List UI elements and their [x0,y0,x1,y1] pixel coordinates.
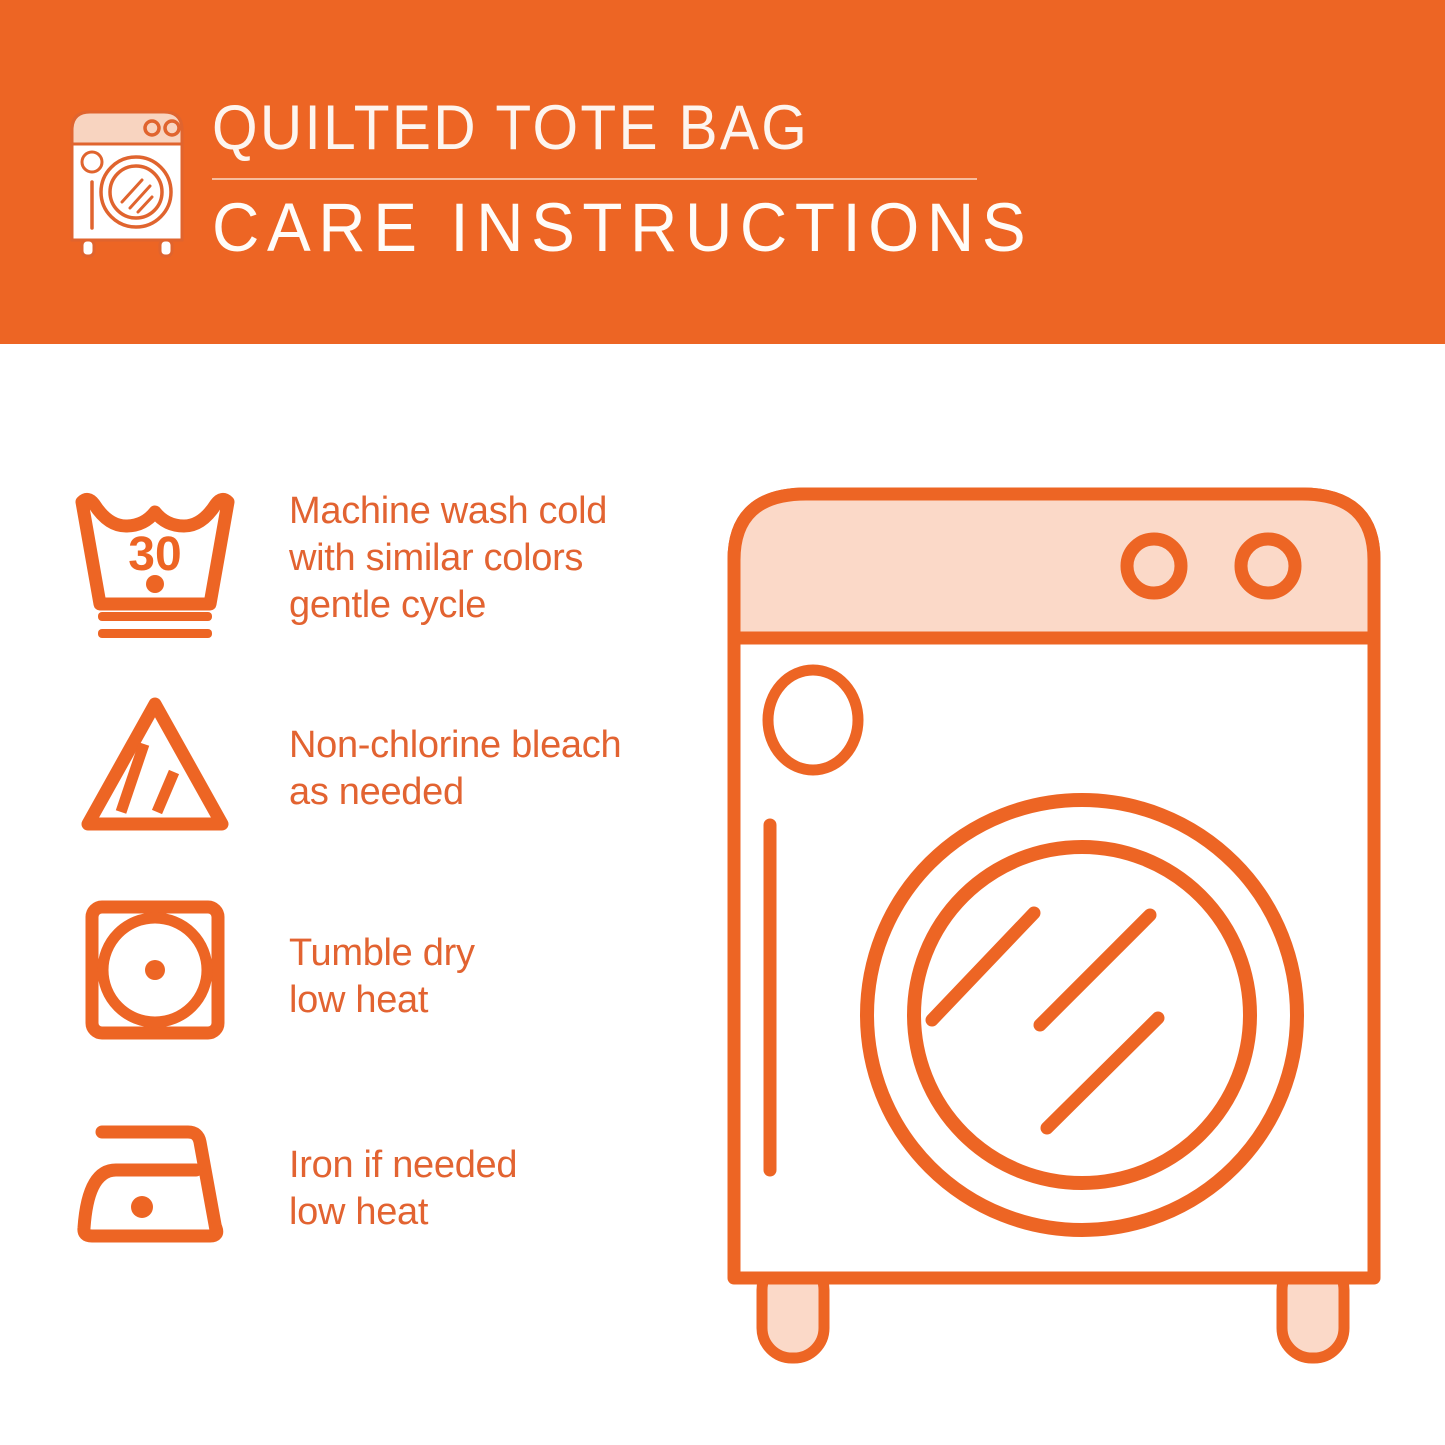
care-row: 30 Machine wash cold with similar colors… [0,470,700,680]
large-washing-machine-illustration [710,470,1410,1380]
care-instructions-infographic: QUILTED TOTE BAG CARE INSTRUCTIONS 30 [0,0,1445,1445]
care-line: as needed [289,769,689,816]
care-text: Iron if needed low heat [289,1142,689,1236]
care-text: Non-chlorine bleach as needed [289,722,689,816]
header-text-block: QUILTED TOTE BAG CARE INSTRUCTIONS [212,92,1392,266]
care-row: Tumble dry low heat [0,890,700,1100]
washing-machine-icon [64,100,190,258]
care-row: Iron if needed low heat [0,1100,700,1310]
header-banner: QUILTED TOTE BAG CARE INSTRUCTIONS [0,0,1445,344]
page-title: QUILTED TOTE BAG [212,92,1309,164]
tumble-dry-low-heat-icon [70,895,240,1055]
page-subtitle: CARE INSTRUCTIONS [212,190,1333,266]
svg-text:30: 30 [128,528,181,581]
knob-left [1127,539,1181,593]
care-line: Tumble dry [289,930,689,977]
care-text: Tumble dry low heat [289,930,689,1024]
care-instruction-list: 30 Machine wash cold with similar colors… [0,470,700,1310]
title-divider [212,178,977,180]
care-line: Non-chlorine bleach [289,722,689,769]
care-line: Machine wash cold [289,488,689,535]
care-line: gentle cycle [289,582,689,629]
knob-right [1241,539,1295,593]
care-row: Non-chlorine bleach as needed [0,680,700,890]
care-text: Machine wash cold with similar colors ge… [289,488,689,629]
care-line: Iron if needed [289,1142,689,1189]
wash-tub-30-gentle-icon: 30 [70,488,240,648]
care-line: low heat [289,1189,689,1236]
care-line: with similar colors [289,535,689,582]
care-line: low heat [289,977,689,1024]
iron-low-heat-icon [70,1110,240,1270]
bleach-triangle-non-chlorine-icon [70,690,240,850]
